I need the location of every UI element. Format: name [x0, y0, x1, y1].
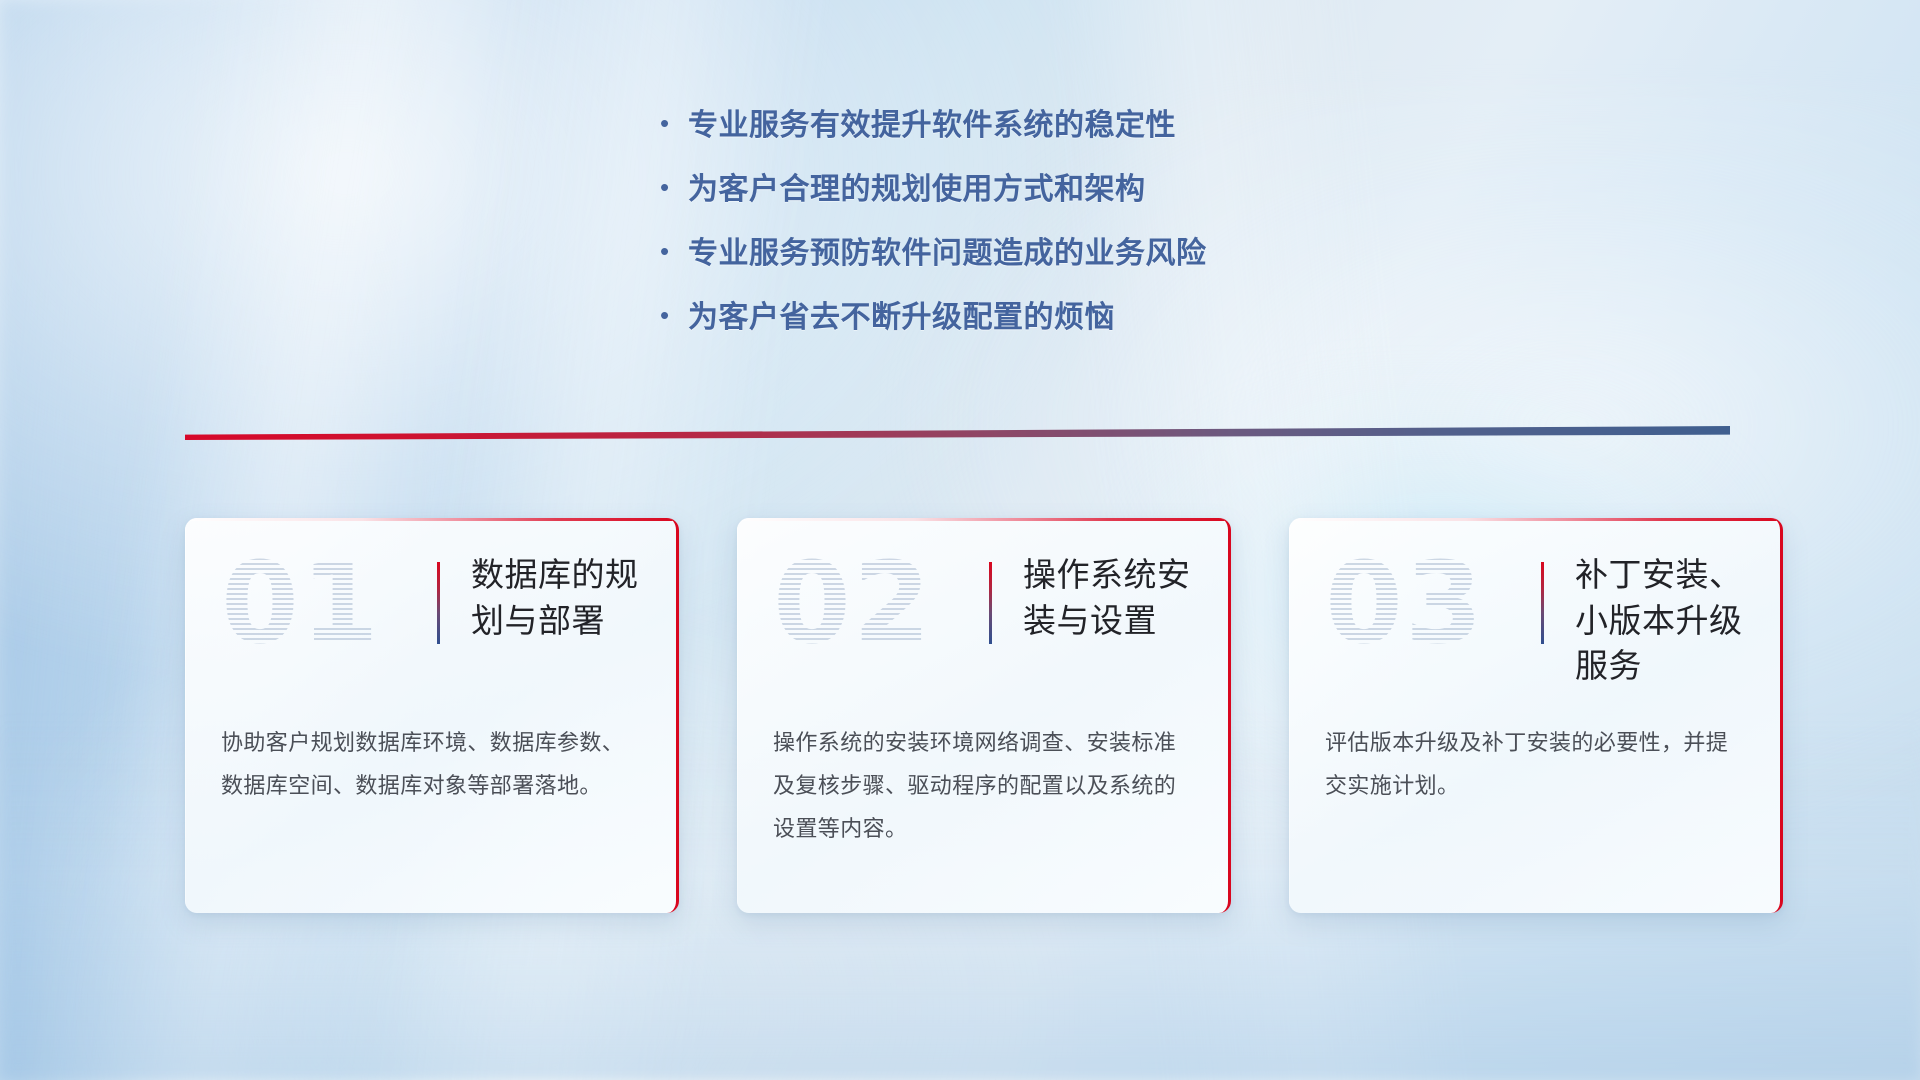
service-card-title: 操作系统安装与设置	[1023, 552, 1213, 643]
benefits-bullet-list: • 专业服务有效提升软件系统的稳定性 • 为客户合理的规划使用方式和架构 • 专…	[660, 108, 1420, 364]
title-accent-rule	[1541, 562, 1544, 644]
service-card-body: 协助客户规划数据库环境、数据库参数、数据库空间、数据库对象等部署落地。	[221, 722, 640, 808]
list-item: • 为客户省去不断升级配置的烦恼	[660, 300, 1420, 364]
title-accent-rule	[989, 562, 992, 644]
bullet-dot-icon: •	[660, 174, 688, 200]
service-card-header: 02 操作系统安装与设置	[737, 518, 1228, 698]
section-divider	[185, 426, 1730, 440]
divider-bar	[185, 426, 1730, 440]
list-item-label: 专业服务预防软件问题造成的业务风险	[688, 236, 1207, 272]
list-item-label: 为客户省去不断升级配置的烦恼	[688, 300, 1115, 336]
list-item: • 专业服务有效提升软件系统的稳定性	[660, 108, 1420, 172]
service-card-group: 01 数据库的规划与部署 协助客户规划数据库环境、数据库参数、数据库空间、数据库…	[185, 518, 1783, 913]
service-card[interactable]: 01 数据库的规划与部署 协助客户规划数据库环境、数据库参数、数据库空间、数据库…	[185, 518, 679, 913]
service-card-header: 01 数据库的规划与部署	[185, 518, 676, 698]
service-card-number: 03	[1325, 548, 1485, 660]
list-item: • 专业服务预防软件问题造成的业务风险	[660, 236, 1420, 300]
service-card[interactable]: 02 操作系统安装与设置 操作系统的安装环境网络调查、安装标准及复核步骤、驱动程…	[737, 518, 1231, 913]
service-card-title: 补丁安装、小版本升级服务	[1575, 552, 1765, 689]
bullet-dot-icon: •	[660, 110, 688, 136]
service-card-body: 评估版本升级及补丁安装的必要性，并提交实施计划。	[1325, 722, 1744, 808]
service-card-number: 01	[221, 548, 381, 660]
title-accent-rule	[437, 562, 440, 644]
service-card-number: 02	[773, 548, 933, 660]
bullet-dot-icon: •	[660, 238, 688, 264]
list-item-label: 为客户合理的规划使用方式和架构	[688, 172, 1146, 208]
list-item-label: 专业服务有效提升软件系统的稳定性	[688, 108, 1176, 144]
service-card-title: 数据库的规划与部署	[471, 552, 661, 643]
list-item: • 为客户合理的规划使用方式和架构	[660, 172, 1420, 236]
service-card-header: 03 补丁安装、小版本升级服务	[1289, 518, 1780, 698]
bullet-dot-icon: •	[660, 302, 688, 328]
service-card-body: 操作系统的安装环境网络调查、安装标准及复核步骤、驱动程序的配置以及系统的设置等内…	[773, 722, 1192, 851]
service-card[interactable]: 03 补丁安装、小版本升级服务 评估版本升级及补丁安装的必要性，并提交实施计划。	[1289, 518, 1783, 913]
